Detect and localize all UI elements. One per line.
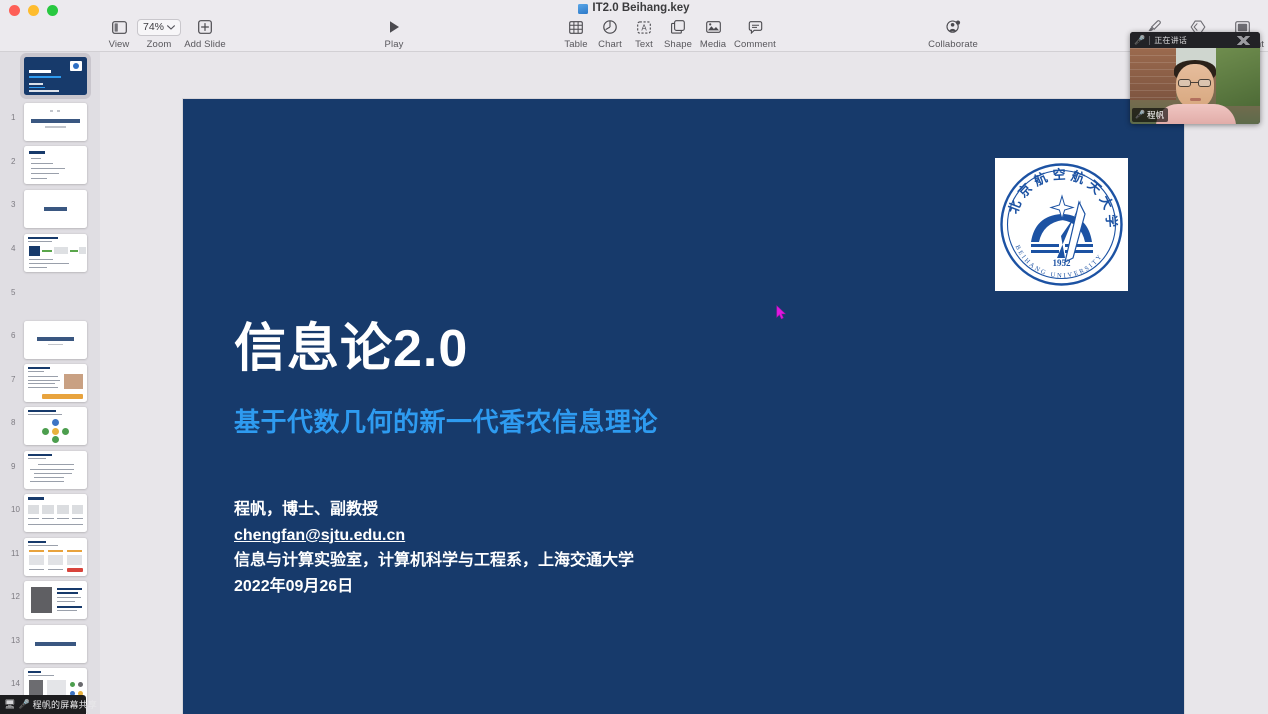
slide-number: 2 [11,157,15,166]
slide-number: 9 [11,462,15,471]
document-title: IT2.0 Beihang.key [0,2,1268,14]
video-feed[interactable]: 🎤 程帆 [1130,48,1260,124]
slide-thumbnail-11[interactable] [24,538,87,576]
monitor-icon: 🖥 [4,700,15,709]
video-person-glasses-left [1178,79,1191,87]
slide-thumbnail-10[interactable] [24,494,87,532]
speaking-status-text: 正在讲话 [1154,35,1187,46]
logo-year: 1952 [1053,258,1072,268]
author-name: 程帆，博士、副教授 [234,497,634,523]
slide-navigator[interactable]: 1 2 3 [0,52,100,714]
page-title: 信息论2.0 [234,323,468,375]
participant-name-badge: 🎤 程帆 [1132,108,1168,122]
slide-thumbnail-12[interactable] [24,581,87,619]
slide-thumbnail-4[interactable] [24,190,87,228]
title-bar: IT2.0 Beihang.key [0,0,1268,16]
video-overlay-panel[interactable]: 🎤 正在讲话 🎤 程帆 [1130,32,1260,124]
slide-thumbnail-8[interactable] [24,407,87,445]
screen-share-badge[interactable]: 🖥 🎤 程帆的屏幕共享 [0,695,86,714]
video-person-mouth [1190,98,1201,101]
video-status-bar: 🎤 正在讲话 [1130,32,1260,48]
keynote-document-icon [578,4,588,14]
microphone-icon: 🎤 [18,700,29,709]
slide-number: 4 [11,244,15,253]
slide-thumbnail-13[interactable] [24,625,87,663]
plus-square-icon [198,18,212,36]
slide-number: 14 [11,679,20,688]
beihang-university-logo: 北 京 航 空 航 天 大 学 BEIHANG UNIVERSITY [995,158,1128,291]
slide-thumbnail-1[interactable] [24,57,87,95]
slide-number: 5 [11,288,15,297]
keynote-window: IT2.0 Beihang.key View 74% Zoom Add Slid [0,0,1268,714]
slide-number: 1 [11,113,15,122]
toolbar-add-slide-button[interactable]: Add Slide [173,18,237,50]
presentation-date: 2022年09月26日 [234,574,634,600]
page-subtitle: 基于代数几何的新一代香农信息理论 [234,402,658,439]
slide-number: 3 [11,200,15,209]
toolbar-comment-label: Comment [734,39,776,50]
screen-share-text: 程帆的屏幕共享 [33,698,97,711]
collaborate-person-icon [945,18,961,36]
toolbar-play-label: Play [385,39,404,50]
video-person-glasses-right [1198,79,1211,87]
author-email-link[interactable]: chengfan@sjtu.edu.cn [234,523,405,549]
photo-icon [706,18,721,36]
participant-name: 程帆 [1147,109,1164,121]
slide-thumbnail-2[interactable] [24,103,87,141]
slide-thumbnail-3[interactable] [24,146,87,184]
speech-bubble-icon [748,18,763,36]
slide-thumbnail-9[interactable] [24,451,87,489]
toolbar-collaborate-label: Collaborate [928,39,978,50]
toolbar-zoom-label: Zoom [147,39,172,50]
slide-number: 8 [11,418,15,427]
author-affiliation: 信息与计算实验室，计算机科学与工程系，上海交通大学 [234,548,634,574]
slide-thumbnail-6[interactable] [24,321,87,359]
zoom-value: 74% [143,21,164,33]
document-title-text: IT2.0 Beihang.key [592,2,689,14]
video-person-glasses-bridge [1191,82,1198,83]
audio-wave-icon [1230,36,1256,45]
video-bg-foliage [1216,48,1260,106]
play-triangle-icon [388,18,401,36]
slide-number: 6 [11,331,15,340]
video-bg-building-lines [1130,48,1176,100]
toolbar-play-button[interactable]: Play [362,18,426,50]
microphone-icon: 🎤 [1135,111,1145,119]
microphone-icon: 🎤 [1134,36,1145,45]
divider [1149,36,1150,45]
current-slide[interactable]: 北 京 航 空 航 天 大 学 BEIHANG UNIVERSITY [183,99,1184,714]
toolbar-comment-button[interactable]: Comment [723,18,787,50]
slide-number: 10 [11,505,20,514]
pointer-cursor [776,305,787,325]
slide-number: 12 [11,592,20,601]
toolbar-collaborate-button[interactable]: Collaborate [921,18,985,50]
slide-thumbnail-5[interactable] [24,234,87,272]
slide-canvas[interactable]: 北 京 航 空 航 天 大 学 BEIHANG UNIVERSITY [100,52,1268,714]
sidebar-panel-icon [112,18,127,36]
slide-number: 13 [11,636,20,645]
slide-thumbnail-7[interactable] [24,364,87,402]
author-block: 程帆，博士、副教授 chengfan@sjtu.edu.cn 信息与计算实验室，… [234,497,634,599]
toolbar-add-slide-label: Add Slide [184,39,226,50]
slide-number: 7 [11,375,15,384]
slide-number: 11 [11,549,19,558]
toolbar: View 74% Zoom Add Slide Play [0,16,1268,52]
